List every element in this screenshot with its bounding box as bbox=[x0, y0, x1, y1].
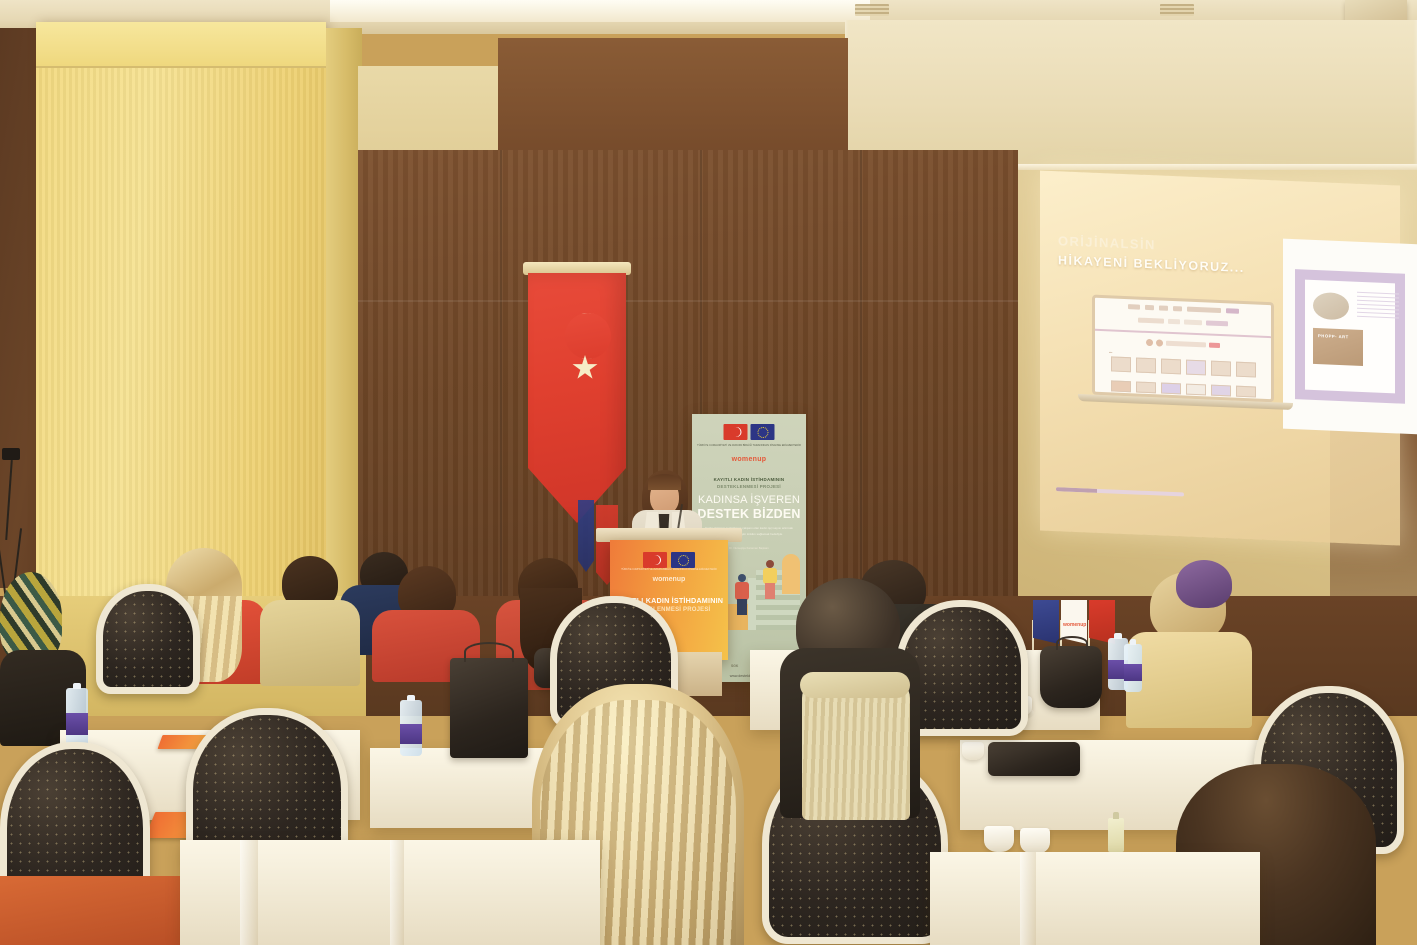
hvac-vent-icon bbox=[855, 4, 889, 16]
eu-flag-icon bbox=[751, 424, 775, 440]
podium-flag-pair bbox=[643, 552, 695, 568]
slide-panel-frame: PHOPP- ART bbox=[1295, 269, 1405, 404]
coffee-cup bbox=[962, 742, 984, 760]
handbag-handle bbox=[464, 642, 514, 662]
attendee-olive-coat bbox=[260, 600, 360, 686]
conference-photo: ORİJİNALSİN HİKAYENİ BEKLİYORUZ... PHOPP… bbox=[0, 0, 1417, 945]
camera-icon bbox=[2, 448, 20, 460]
mockup-row-label: ••• bbox=[1109, 350, 1112, 354]
panel-seam bbox=[358, 300, 1018, 302]
mockup-search-row bbox=[1095, 316, 1271, 330]
coffee-cup bbox=[1020, 828, 1050, 854]
turkey-flag-icon bbox=[724, 424, 748, 440]
speaker-hair-front bbox=[648, 474, 681, 490]
wall-panel-brown-upper bbox=[498, 38, 848, 168]
clutch-bag bbox=[988, 742, 1080, 776]
logo-sgk: SGK bbox=[731, 664, 738, 668]
slide-panel-oval-photo bbox=[1313, 292, 1349, 321]
hvac-vent-icon bbox=[1160, 4, 1194, 16]
rollup-brand: womenup bbox=[692, 456, 806, 463]
water-bottle bbox=[1124, 644, 1142, 692]
rollup-eu-disclaimer: TÜRKİYE CUMHURİYETİ VE AVRUPA BİRLİĞİ TA… bbox=[692, 444, 806, 448]
pennant-cloth bbox=[528, 273, 626, 523]
podium-brand: womenup bbox=[610, 576, 728, 583]
projection-screen: ORİJİNALSİN HİKAYENİ BEKLİYORUZ... PHOPP… bbox=[1040, 170, 1400, 545]
attendee-fur-vest bbox=[802, 680, 910, 820]
attendee-purple-hair bbox=[1176, 560, 1232, 608]
rollup-flag-pair bbox=[724, 424, 775, 440]
slide-heading: HİKAYENİ BEKLİYORUZ... bbox=[1058, 253, 1245, 275]
banquet-chair bbox=[96, 584, 200, 694]
turkey-flag-icon bbox=[643, 552, 667, 568]
slide-panel-brand-box: PHOPP- ART bbox=[1313, 328, 1363, 366]
water-bottle bbox=[66, 688, 88, 748]
ceiling-recess bbox=[330, 0, 870, 22]
handbag-handle bbox=[1056, 636, 1088, 650]
mockup-avatar-row bbox=[1095, 336, 1271, 352]
handbag bbox=[1040, 646, 1102, 708]
table-foreground-left bbox=[180, 840, 600, 945]
slide-progress-bar bbox=[1056, 487, 1184, 496]
podium-eu-disclaimer: TÜRKİYE CUMHURİYETİ VE AVRUPA BİRLİĞİ TA… bbox=[610, 568, 728, 571]
brochure-foreground bbox=[0, 876, 180, 945]
panel-seam bbox=[500, 150, 502, 610]
rollup-headline-line1: KADINSA İŞVEREN bbox=[692, 494, 806, 506]
slide-heading-faded: ORİJİNALSİN bbox=[1058, 233, 1156, 252]
rollup-kicker-line2: DESTEKLENMESİ PROJESİ bbox=[692, 483, 806, 490]
rollup-headline-line2: DESTEK BİZDEN bbox=[692, 507, 806, 521]
desk-flag-eu bbox=[578, 500, 594, 572]
table-flag-brand: womenup bbox=[1063, 622, 1086, 628]
column-cap bbox=[36, 22, 326, 68]
slide-laptop-mockup: ••• bbox=[1092, 295, 1274, 403]
turkish-flag-pennant: Türkiye — vertical pennant with crescent… bbox=[528, 262, 626, 524]
crescent-icon bbox=[554, 313, 600, 359]
water-bottle bbox=[400, 700, 422, 756]
mockup-top-nav bbox=[1095, 302, 1271, 316]
coffee-cup bbox=[984, 826, 1014, 852]
mockup-tile-row-1 bbox=[1095, 356, 1271, 381]
eu-flag-icon bbox=[671, 552, 695, 568]
panel-seam bbox=[860, 150, 862, 610]
handbag bbox=[450, 658, 528, 758]
attendee-yellow-knit bbox=[1126, 632, 1252, 728]
attendee-fur-collar bbox=[800, 672, 910, 698]
ceiling-beam bbox=[845, 20, 1417, 170]
slide-panel-text-lines bbox=[1357, 292, 1399, 322]
hand-sanitizer-bottle bbox=[1108, 818, 1124, 852]
table-foreground-right bbox=[930, 852, 1260, 945]
slide-side-panel: PHOPP- ART bbox=[1283, 239, 1417, 435]
